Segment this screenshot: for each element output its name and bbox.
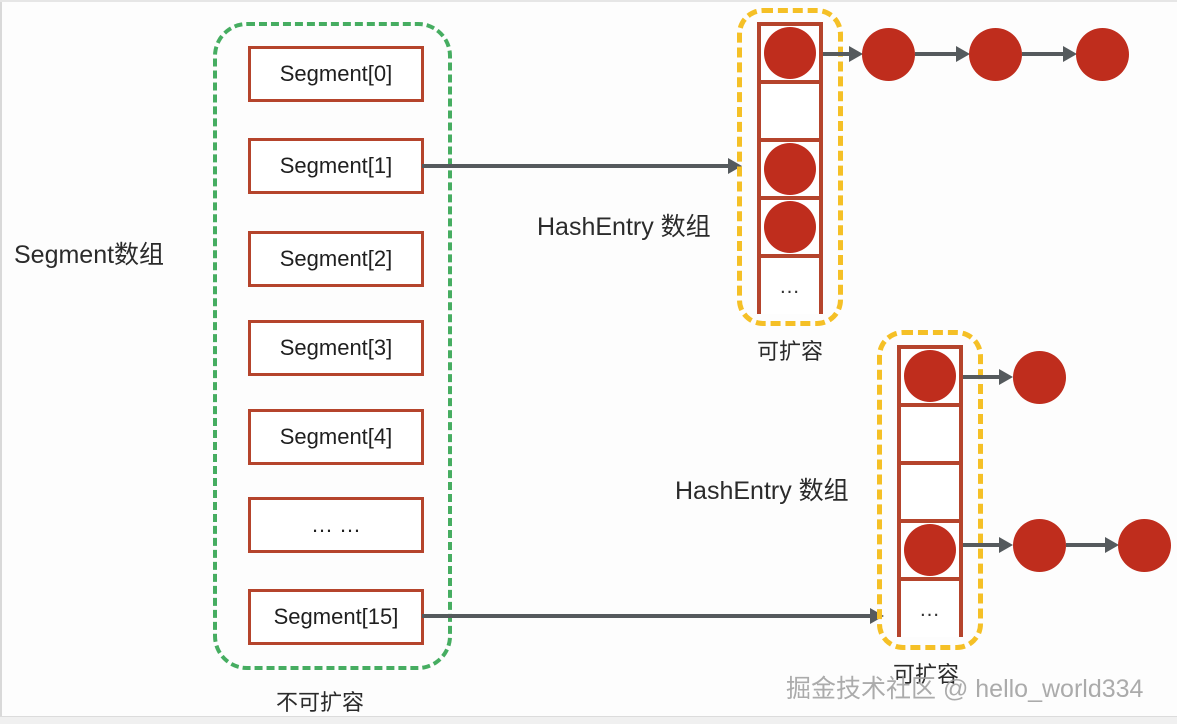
hashentry-cell-top-2[interactable] <box>761 142 819 200</box>
hashentry-cell-bottom-3[interactable] <box>901 523 959 581</box>
hashentry-cell-top-1[interactable] <box>761 84 819 142</box>
segment-box-4[interactable]: Segment[4] <box>248 409 424 465</box>
hash-node-circle <box>764 201 816 253</box>
not-resizable-label: 不可扩容 <box>276 692 364 714</box>
segment-box-2[interactable]: Segment[2] <box>248 231 424 287</box>
canvas-bottom-border <box>0 716 1177 724</box>
hash-entry-array-label-top: HashEntry 数组 <box>537 215 711 240</box>
hashentry-cell-bottom-0[interactable] <box>901 349 959 407</box>
hash-entry-array-label-bottom: HashEntry 数组 <box>675 479 849 504</box>
chain-node-top-3 <box>1076 28 1129 81</box>
segment-box-label: Segment[1] <box>280 153 393 179</box>
hashentry-cell-top-0[interactable] <box>761 26 819 84</box>
segment-box-label: Segment[3] <box>280 335 393 361</box>
resizable-label-top: 可扩容 <box>757 341 823 363</box>
hashentry-cell-bottom-2[interactable] <box>901 465 959 523</box>
diagram-canvas: Segment数组 Segment[0] Segment[1] Segment[… <box>0 0 1177 724</box>
segment-array-label: Segment数组 <box>14 243 164 268</box>
segment-box-label: Segment[0] <box>280 61 393 87</box>
chain-node-top-1 <box>862 28 915 81</box>
segment-box-3[interactable]: Segment[3] <box>248 320 424 376</box>
hash-node-circle <box>764 27 816 79</box>
hash-node-circle <box>904 524 956 576</box>
hashentry-cell-bottom-4[interactable]: … <box>901 581 959 637</box>
segment-box-0[interactable]: Segment[0] <box>248 46 424 102</box>
canvas-left-border <box>0 0 2 724</box>
chain-node-bottom-r2-2 <box>1118 519 1171 572</box>
hash-node-circle <box>904 350 956 402</box>
chain-node-bottom-r2-1 <box>1013 519 1066 572</box>
hashentry-cell-ellipsis: … <box>779 276 801 297</box>
hashentry-cell-top-3[interactable] <box>761 200 819 258</box>
segment-box-15[interactable]: Segment[15] <box>248 589 424 645</box>
segment-box-ellipsis[interactable]: … … <box>248 497 424 553</box>
chain-node-bottom-r1-1 <box>1013 351 1066 404</box>
segment-box-label: Segment[4] <box>280 424 393 450</box>
canvas-top-border <box>0 0 1177 2</box>
segment-box-1[interactable]: Segment[1] <box>248 138 424 194</box>
chain-node-top-2 <box>969 28 1022 81</box>
hashentry-cell-top-4[interactable]: … <box>761 258 819 314</box>
watermark-text: 掘金技术社区 @ hello_world334 <box>786 677 1143 702</box>
hashentry-cell-bottom-1[interactable] <box>901 407 959 465</box>
segment-box-label: … … <box>311 512 361 538</box>
segment-box-label: Segment[15] <box>274 604 399 630</box>
hashentry-table-bottom: … <box>897 345 963 637</box>
hashentry-table-top: … <box>757 22 823 314</box>
hash-node-circle <box>764 143 816 195</box>
segment-box-label: Segment[2] <box>280 246 393 272</box>
hashentry-cell-ellipsis: … <box>919 599 941 620</box>
